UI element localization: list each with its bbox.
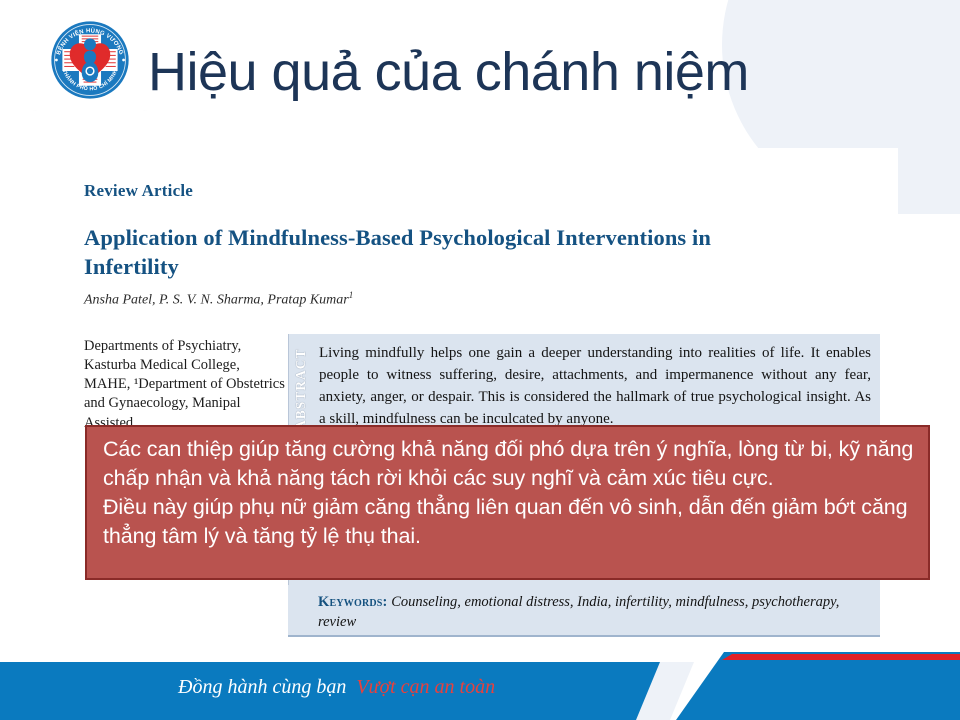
slide-footer: Đồng hành cùng bạnVượt cạn an toàn bbox=[0, 662, 960, 720]
keywords-label: Keywords: bbox=[318, 594, 388, 610]
footer-tagline-accent: Vượt cạn an toàn bbox=[356, 676, 495, 698]
abstract-side-label: ABSTRACT bbox=[293, 342, 313, 430]
article-authors-superscript: 1 bbox=[349, 290, 354, 300]
callout-paragraph-1: Các can thiệp giúp tăng cường khả năng đ… bbox=[103, 435, 914, 493]
keywords-line: Keywords: Counseling, emotional distress… bbox=[318, 593, 868, 632]
footer-red-accent-line bbox=[722, 654, 960, 660]
abstract-text: Living mindfully helps one gain a deeper… bbox=[319, 342, 871, 430]
hospital-logo-icon: BỆNH VIỆN HÙNG VƯƠNG THÀNH PHỐ HỒ CHÍ MI… bbox=[44, 14, 136, 106]
slide-canvas: BỆNH VIỆN HÙNG VƯƠNG THÀNH PHỐ HỒ CHÍ MI… bbox=[0, 0, 960, 720]
article-affiliation: Departments of Psychiatry, Kasturba Medi… bbox=[84, 337, 289, 433]
red-callout-box: Các can thiệp giúp tăng cường khả năng đ… bbox=[85, 425, 930, 580]
footer-tagline-primary: Đồng hành cùng bạn bbox=[178, 676, 346, 698]
callout-paragraph-2: Điều này giúp phụ nữ giảm căng thẳng liê… bbox=[103, 493, 914, 551]
footer-tagline: Đồng hành cùng bạnVượt cạn an toàn bbox=[178, 676, 495, 699]
keywords-text: Counseling, emotional distress, India, i… bbox=[318, 594, 839, 630]
article-authors-text: Ansha Patel, P. S. V. N. Sharma, Pratap … bbox=[84, 293, 349, 308]
article-authors: Ansha Patel, P. S. V. N. Sharma, Pratap … bbox=[84, 290, 353, 309]
article-keywords-panel: Keywords: Counseling, emotional distress… bbox=[288, 585, 880, 637]
page-title: Hiệu quả của chánh niệm bbox=[148, 43, 938, 101]
footer-band-right bbox=[676, 652, 960, 720]
article-title: Application of Mindfulness-Based Psychol… bbox=[84, 224, 774, 282]
article-kicker: Review Article bbox=[84, 181, 193, 201]
